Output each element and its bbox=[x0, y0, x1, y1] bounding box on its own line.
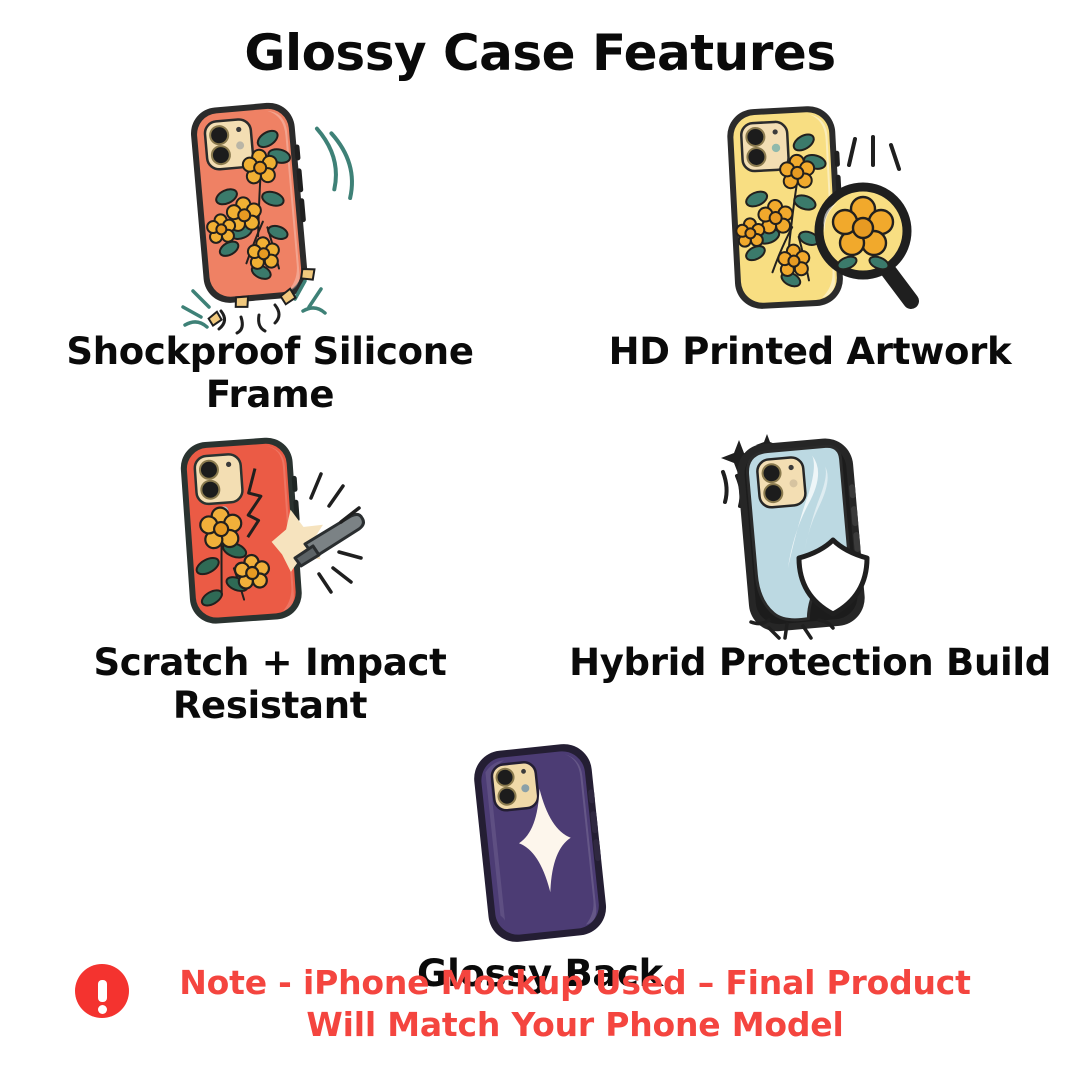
exclamation-circle-icon bbox=[75, 964, 129, 1018]
feature-item-hybrid-protection: Hybrid Protection Build bbox=[540, 416, 1080, 727]
feature-item-hd-artwork: HD Printed Artwork bbox=[540, 85, 1080, 416]
icon-wrap bbox=[155, 85, 385, 335]
feature-item-scratch-impact: Scratch + Impact Resistant bbox=[0, 416, 540, 727]
phone-case-blue-black-shield-icon bbox=[695, 416, 925, 646]
feature-grid: Shockproof Silicone Frame bbox=[0, 85, 1080, 996]
phone-case-yellow-floral-magnifier-icon bbox=[695, 85, 925, 335]
feature-label: HD Printed Artwork bbox=[609, 331, 1012, 374]
exclamation-mark bbox=[98, 980, 107, 1002]
page-title: Glossy Case Features bbox=[244, 26, 835, 81]
icon-wrap bbox=[695, 85, 925, 335]
note-text: Note - iPhone Mockup Used – Final Produc… bbox=[145, 962, 1005, 1046]
icon-wrap bbox=[695, 416, 925, 646]
icon-wrap bbox=[445, 727, 635, 957]
phone-case-purple-sparkle-icon bbox=[445, 737, 635, 947]
feature-label: Scratch + Impact Resistant bbox=[0, 642, 540, 727]
phone-case-red-scratch-blade-icon bbox=[155, 416, 385, 646]
phone-case-coral-floral-bounce-icon bbox=[155, 85, 385, 335]
feature-item-shockproof: Shockproof Silicone Frame bbox=[0, 85, 540, 416]
feature-infographic: Glossy Case Features bbox=[0, 0, 1080, 1080]
note-bar: Note - iPhone Mockup Used – Final Produc… bbox=[0, 962, 1080, 1046]
icon-wrap bbox=[155, 416, 385, 646]
feature-item-glossy-back: Glossy Back bbox=[0, 727, 1080, 996]
feature-label: Hybrid Protection Build bbox=[569, 642, 1051, 685]
feature-label: Shockproof Silicone Frame bbox=[0, 331, 540, 416]
